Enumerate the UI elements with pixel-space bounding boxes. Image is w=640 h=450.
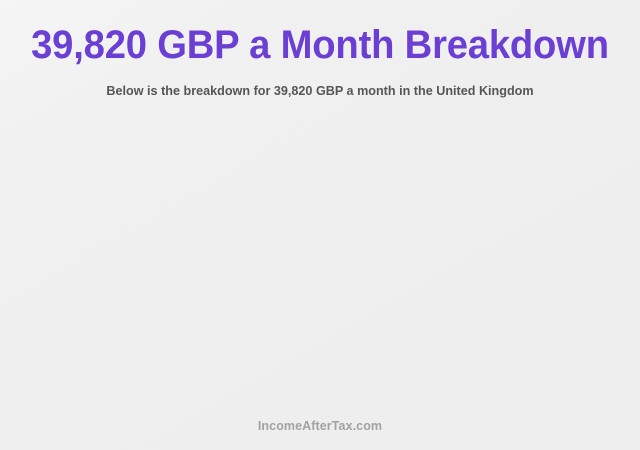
breakdown-region [0,99,640,418]
page-root: 39,820 GBP a Month Breakdown Below is th… [0,0,640,450]
site-watermark: IncomeAfterTax.com [13,418,627,434]
page-footer: IncomeAfterTax.com [0,418,640,450]
page-subtitle: Below is the breakdown for 39,820 GBP a … [10,82,631,99]
page-title: 39,820 GBP a Month Breakdown [14,22,625,68]
page-header: 39,820 GBP a Month Breakdown Below is th… [0,0,640,99]
